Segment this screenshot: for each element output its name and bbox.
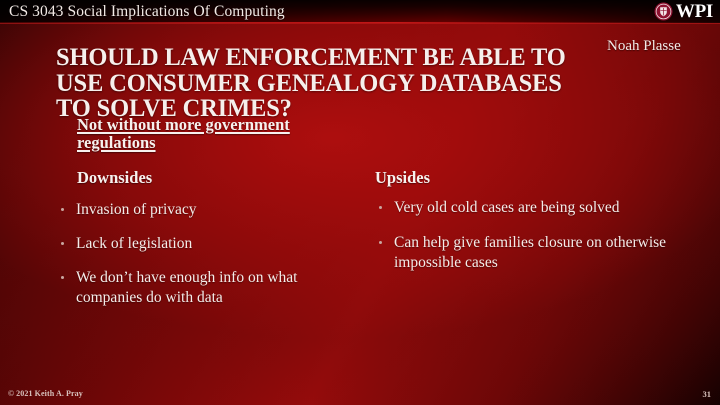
list-item: Very old cold cases are being solved	[375, 198, 680, 218]
list-item: Lack of legislation	[58, 234, 358, 254]
column-heading-upsides: Upsides	[375, 168, 430, 187]
list-item: Invasion of privacy	[58, 200, 358, 220]
list-item-text: Invasion of privacy	[76, 201, 197, 218]
course-title: CS 3043 Social Implications Of Computing	[9, 2, 285, 21]
bullet-dot-icon	[61, 208, 64, 211]
downsides-list: Invasion of privacy Lack of legislation …	[58, 200, 358, 322]
column-heading-downsides: Downsides	[77, 168, 152, 187]
slide-title: SHOULD LAW ENFORCEMENT BE ABLE TO USE CO…	[56, 44, 594, 121]
wpi-wordmark: WPI	[676, 1, 713, 22]
slide-header-band: CS 3043 Social Implications Of Computing…	[0, 0, 720, 23]
author-name: Noah Plasse	[607, 37, 681, 55]
list-item-text: Lack of legislation	[76, 235, 192, 252]
list-item: We don’t have enough info on what compan…	[58, 268, 358, 308]
presentation-slide: CS 3043 Social Implications Of Computing…	[0, 0, 720, 405]
list-item-text: Can help give families closure on otherw…	[394, 234, 666, 271]
upsides-list: Very old cold cases are being solved Can…	[375, 198, 680, 288]
wpi-logo: WPI	[654, 1, 713, 22]
list-item-text: Very old cold cases are being solved	[394, 199, 620, 216]
bullet-dot-icon	[379, 206, 382, 209]
bullet-dot-icon	[61, 242, 64, 245]
bullet-dot-icon	[379, 241, 382, 244]
wpi-seal-icon	[654, 2, 673, 21]
list-item-text: We don’t have enough info on what compan…	[76, 269, 297, 306]
answer-statement: Not without more government regulations	[77, 116, 337, 151]
list-item: Can help give families closure on otherw…	[375, 233, 680, 273]
bullet-dot-icon	[61, 276, 64, 279]
slide-page-number: 31	[703, 389, 712, 399]
footer-copyright: © 2021 Keith A. Pray	[8, 389, 83, 399]
